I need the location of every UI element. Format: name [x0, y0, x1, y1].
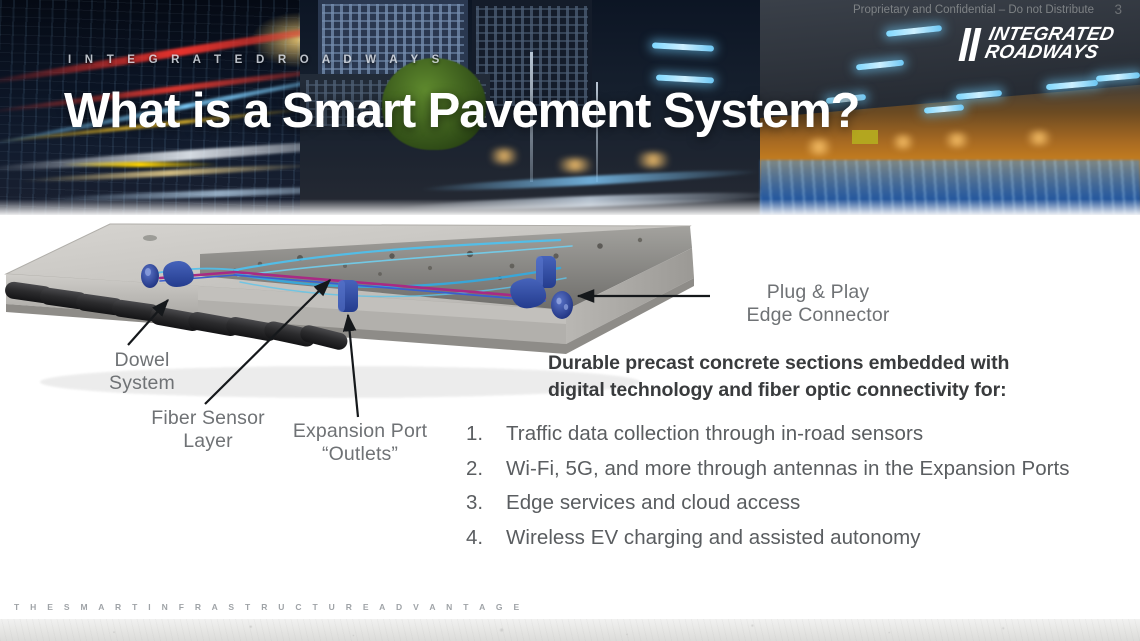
list-item: 2. Wi-Fi, 5G, and more through antennas …: [466, 457, 1126, 481]
callout-dowel-line-1: Dowel: [115, 349, 170, 371]
lede-line-1: Durable precast concrete sections embedd…: [548, 352, 1009, 374]
footer-texture-strip: [0, 619, 1140, 641]
brand-watermark: I N T E G R A T E D R O A D W A Y S: [68, 54, 444, 66]
lede-line-2: digital technology and fiber optic conne…: [548, 379, 1007, 401]
slide: I N T E G R A T E D R O A D W A Y S INTE…: [0, 0, 1140, 641]
logo-wordmark: INTEGRATED ROADWAYS: [983, 26, 1116, 62]
feature-list: 1. Traffic data collection through in-ro…: [466, 422, 1126, 560]
company-logo: INTEGRATED ROADWAYS: [962, 26, 1112, 62]
callout-expansion-line-2: “Outlets”: [322, 443, 398, 465]
callout-dowel-line-2: System: [109, 372, 175, 394]
page-number: 3: [1114, 2, 1122, 17]
footer-tagline: T H E S M A R T I N F R A S T R U C T U …: [14, 602, 523, 612]
list-item-number: 1.: [466, 422, 506, 446]
callout-plug-line-1: Plug & Play: [767, 281, 869, 303]
list-item-number: 4.: [466, 526, 506, 550]
callout-edge-connector: Plug & Play Edge Connector: [718, 281, 918, 327]
callout-fiber-sensor-layer: Fiber Sensor Layer: [144, 407, 272, 453]
page-title: What is a Smart Pavement System?: [64, 83, 859, 139]
list-item-text: Wi-Fi, 5G, and more through antennas in …: [506, 457, 1070, 481]
lede-paragraph: Durable precast concrete sections embedd…: [548, 350, 1108, 403]
callout-fiber-line-1: Fiber Sensor: [151, 407, 264, 429]
list-item-text: Edge services and cloud access: [506, 491, 800, 515]
callout-dowel-system: Dowel System: [72, 349, 212, 395]
list-item: 4. Wireless EV charging and assisted aut…: [466, 526, 1126, 550]
double-bar-logo-icon: [958, 28, 981, 61]
callout-plug-line-2: Edge Connector: [746, 304, 889, 326]
list-item-text: Wireless EV charging and assisted autono…: [506, 526, 921, 550]
callout-expansion-port: Expansion Port “Outlets”: [287, 420, 433, 466]
list-item: 1. Traffic data collection through in-ro…: [466, 422, 1126, 446]
list-item-number: 2.: [466, 457, 506, 481]
callout-expansion-line-1: Expansion Port: [293, 420, 427, 442]
list-item: 3. Edge services and cloud access: [466, 491, 1126, 515]
confidentiality-notice: Proprietary and Confidential – Do not Di…: [853, 4, 1094, 16]
logo-line-2: ROADWAYS: [983, 44, 1112, 62]
list-item-text: Traffic data collection through in-road …: [506, 422, 923, 446]
callout-fiber-line-2: Layer: [183, 430, 233, 452]
list-item-number: 3.: [466, 491, 506, 515]
